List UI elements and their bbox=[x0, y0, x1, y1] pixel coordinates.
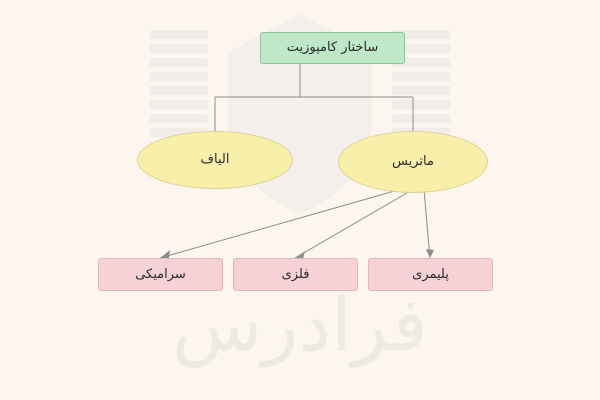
edge-matrix-to-polymeric bbox=[424, 190, 430, 258]
arrowhead-polymeric bbox=[426, 249, 434, 258]
diagram-canvas: فرادرس ساختار کامپوزیت الیاف bbox=[0, 0, 600, 400]
node-ceramic-label: سرامیکی bbox=[135, 267, 186, 283]
edge-matrix-to-metallic bbox=[295, 190, 412, 258]
node-matrix-label: ماتریس bbox=[392, 154, 434, 170]
node-fibers-label: الیاف bbox=[201, 152, 230, 168]
node-metallic[interactable]: فلزی bbox=[233, 258, 358, 291]
node-ceramic[interactable]: سرامیکی bbox=[98, 258, 223, 291]
node-root-label: ساختار کامپوزیت bbox=[287, 40, 379, 56]
edge-matrix-to-ceramic bbox=[160, 188, 405, 258]
arrowhead-ceramic bbox=[160, 250, 170, 258]
node-fibers[interactable]: الیاف bbox=[137, 131, 293, 189]
node-metallic-label: فلزی bbox=[282, 267, 310, 283]
node-root[interactable]: ساختار کامپوزیت bbox=[260, 32, 405, 64]
svg-text:فرادرس: فرادرس bbox=[172, 282, 428, 368]
node-matrix[interactable]: ماتریس bbox=[338, 131, 488, 193]
node-polymeric-label: پلیمری bbox=[412, 267, 449, 283]
node-polymeric[interactable]: پلیمری bbox=[368, 258, 493, 291]
